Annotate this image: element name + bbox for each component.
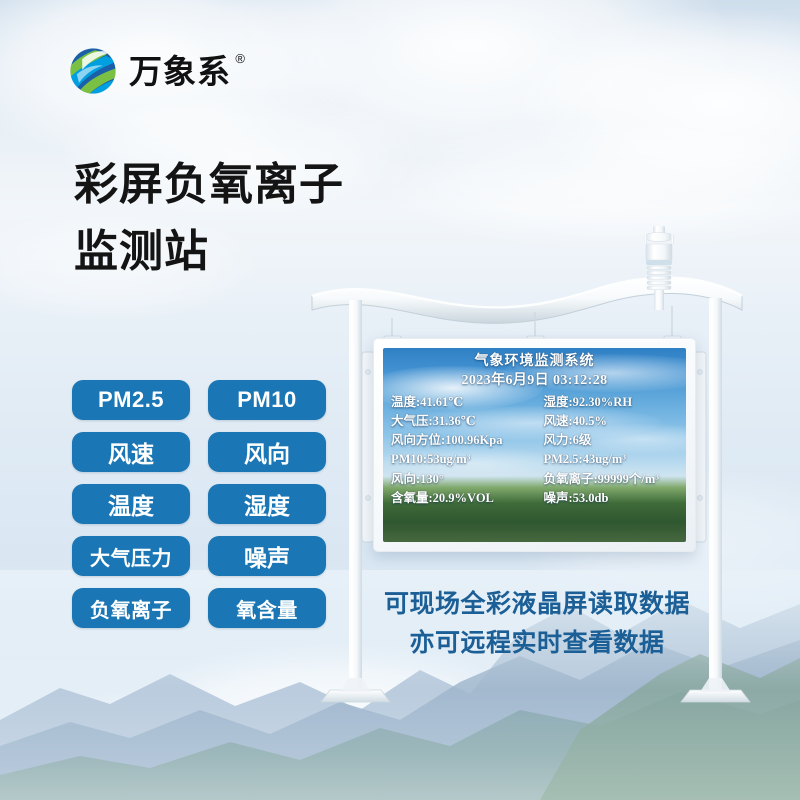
reading-humidity: 湿度:92.30%RH	[535, 394, 680, 411]
reading-noise: 噪声:53.0db	[535, 490, 680, 507]
feature-tag-air-pressure[interactable]: 大气压力	[72, 536, 190, 576]
feature-tag-noise[interactable]: 噪声	[208, 536, 326, 576]
feature-tag-pm10[interactable]: PM10	[208, 380, 326, 420]
feature-tag-humidity[interactable]: 湿度	[208, 484, 326, 524]
reading-pm25: PM2.5:43ug/m³	[535, 451, 680, 468]
page-title-line-2: 监测站	[74, 219, 344, 286]
reading-wind-force: 风力:6级	[535, 432, 680, 449]
trademark-symbol: ®	[235, 52, 246, 65]
ultrasonic-weather-sensor-icon	[629, 226, 689, 310]
reading-air-pressure: 大气压:31.36℃	[390, 413, 535, 430]
feature-tag-wind-speed[interactable]: 风速	[72, 432, 190, 472]
lcd-screen: 气象环境监测系统 2023年6月9日 03:12:28 温度:41.61℃ 湿度…	[383, 348, 686, 542]
lcd-display-panel[interactable]: 气象环境监测系统 2023年6月9日 03:12:28 温度:41.61℃ 湿度…	[373, 338, 696, 552]
screen-readout: 气象环境监测系统 2023年6月9日 03:12:28 温度:41.61℃ 湿度…	[383, 348, 686, 542]
screen-title: 气象环境监测系统	[390, 353, 679, 371]
feature-tag-oxygen-content[interactable]: 氧含量	[208, 588, 326, 628]
reading-temperature: 温度:41.61℃	[390, 394, 535, 411]
brand-name-wrapper: 万象系 ®	[129, 55, 231, 88]
reading-wind-speed: 风速:40.5%	[535, 413, 680, 430]
screen-readings-grid: 温度:41.61℃ 湿度:92.30%RH 大气压:31.36℃ 风速:40.5…	[390, 394, 679, 508]
page-title: 彩屏负氧离子 监测站	[74, 152, 344, 286]
reading-wind-bearing: 风向方位:100.96Kpa	[390, 432, 535, 449]
reading-pm10: PM10:53ug/m³	[390, 451, 535, 468]
promo-text: 可现场全彩液晶屏读取数据 亦可远程实时查看数据	[382, 585, 692, 663]
promo-line-1: 可现场全彩液晶屏读取数据	[382, 585, 692, 624]
feature-tag-negative-ions[interactable]: 负氧离子	[72, 588, 190, 628]
feature-tag-wind-direction[interactable]: 风向	[208, 432, 326, 472]
reading-negative-ions: 负氧离子:99999个/m³	[535, 471, 680, 488]
brand-name: 万象系	[129, 53, 231, 90]
feature-tag-temperature[interactable]: 温度	[72, 484, 190, 524]
feature-tag-pm25[interactable]: PM2.5	[72, 380, 190, 420]
globe-swirl-icon	[66, 44, 120, 98]
feature-tag-list: PM2.5 PM10 风速 风向 温度 湿度 大气压力 噪声 负氧离子 氧含量	[72, 380, 326, 628]
product-poster: 万象系 ® 彩屏负氧离子 监测站	[0, 0, 800, 800]
promo-line-2: 亦可远程实时查看数据	[382, 624, 692, 663]
page-title-line-1: 彩屏负氧离子	[74, 152, 344, 219]
brand-logo: 万象系 ®	[66, 44, 231, 98]
screen-datetime: 2023年6月9日 03:12:28	[390, 372, 679, 390]
reading-wind-direction: 风向:130°	[390, 471, 535, 488]
reading-oxygen: 含氧量:20.9%VOL	[390, 490, 535, 507]
